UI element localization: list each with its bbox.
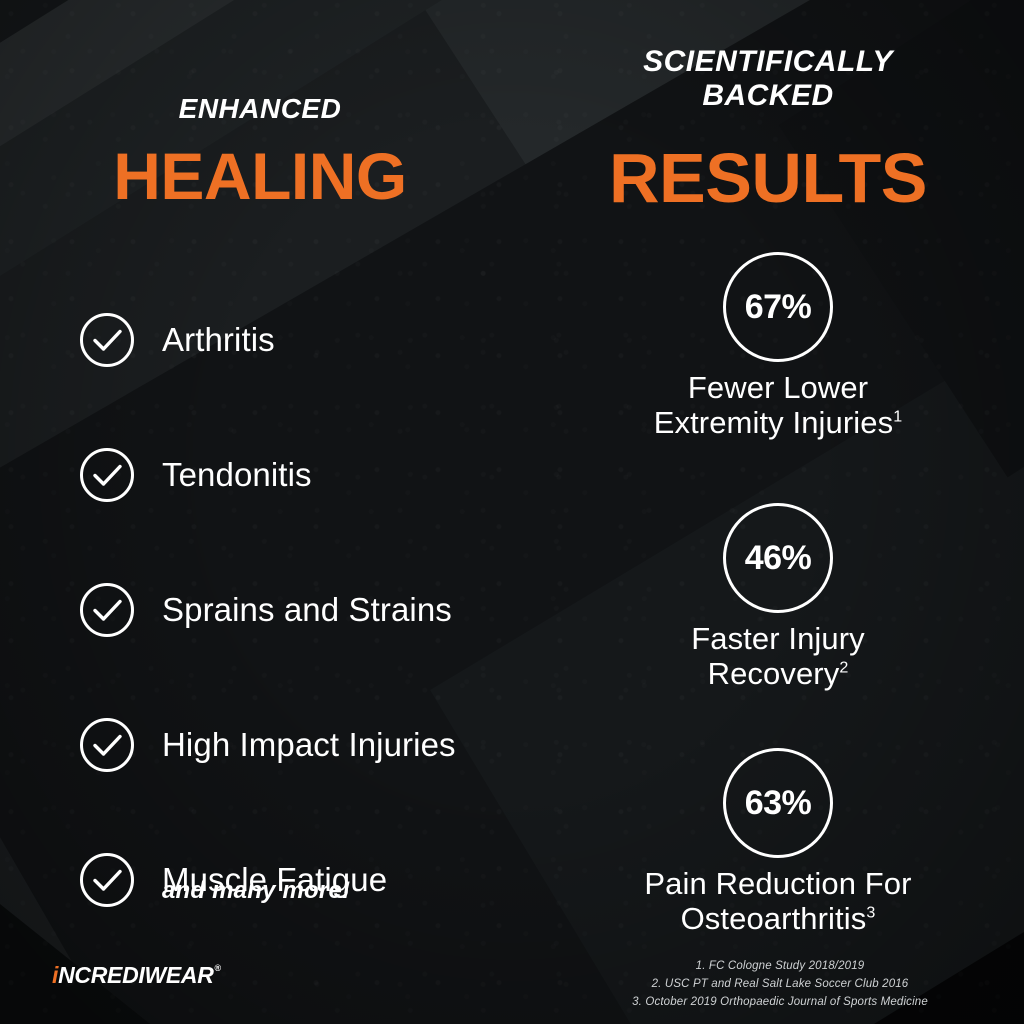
- right-headline: RESULTS: [548, 143, 988, 213]
- infographic-poster: ENHANCED HEALING SCIENTIFICALLY BACKED R…: [0, 0, 1024, 1024]
- list-item: Sprains and Strains: [78, 542, 548, 677]
- logo-wordmark: NCREDIWEAR: [58, 962, 213, 989]
- closing-note: and many more!: [162, 877, 350, 905]
- check-circle-icon: [78, 851, 136, 909]
- footnote-item: 3. October 2019 Orthopaedic Journal of S…: [565, 993, 995, 1011]
- list-item: Arthritis: [78, 272, 548, 407]
- stat-value: 63%: [745, 784, 812, 823]
- condition-label: Sprains and Strains: [162, 591, 452, 629]
- check-circle-icon: [78, 581, 136, 639]
- check-circle-icon: [78, 446, 136, 504]
- stat-caption: Fewer Lower Extremity Injuries1: [568, 370, 988, 441]
- stat-footnote-marker: 2: [839, 659, 848, 677]
- stat-block: 63% Pain Reduction For Osteoarthritis3: [568, 748, 988, 937]
- footnote-item: 1. FC Cologne Study 2018/2019: [565, 957, 995, 975]
- stat-value: 46%: [745, 539, 812, 578]
- stat-value: 67%: [745, 288, 812, 327]
- incrediwear-logo: i NCREDIWEAR ®: [52, 962, 221, 989]
- footnotes: 1. FC Cologne Study 2018/2019 2. USC PT …: [565, 957, 995, 1011]
- stat-badge-circle: 46%: [723, 503, 833, 613]
- stat-block: 67% Fewer Lower Extremity Injuries1: [568, 252, 988, 441]
- condition-label: High Impact Injuries: [162, 726, 456, 764]
- stat-caption: Pain Reduction For Osteoarthritis3: [568, 866, 988, 937]
- stat-badge-circle: 67%: [723, 252, 833, 362]
- stat-caption-text: Pain Reduction For Osteoarthritis: [644, 866, 911, 936]
- poster-content: ENHANCED HEALING SCIENTIFICALLY BACKED R…: [0, 0, 1024, 1024]
- condition-list: Arthritis Tendonitis S: [78, 272, 548, 947]
- right-kicker: SCIENTIFICALLY BACKED: [548, 45, 988, 112]
- check-circle-icon: [78, 311, 136, 369]
- stat-badge-circle: 63%: [723, 748, 833, 858]
- left-headline: HEALING: [36, 143, 484, 209]
- stat-caption: Faster Injury Recovery2: [568, 621, 988, 692]
- list-item: Tendonitis: [78, 407, 548, 542]
- stat-block: 46% Faster Injury Recovery2: [568, 503, 988, 692]
- footnote-item: 2. USC PT and Real Salt Lake Soccer Club…: [565, 975, 995, 993]
- condition-label: Tendonitis: [162, 456, 312, 494]
- logo-trademark-icon: ®: [215, 963, 221, 973]
- stat-caption-text: Fewer Lower Extremity Injuries: [654, 370, 894, 440]
- check-circle-icon: [78, 716, 136, 774]
- stat-footnote-marker: 1: [893, 408, 902, 426]
- list-item: High Impact Injuries: [78, 677, 548, 812]
- stat-footnote-marker: 3: [866, 904, 875, 922]
- stat-caption-text: Faster Injury Recovery: [691, 621, 865, 691]
- left-kicker: ENHANCED: [36, 93, 484, 124]
- condition-label: Arthritis: [162, 321, 275, 359]
